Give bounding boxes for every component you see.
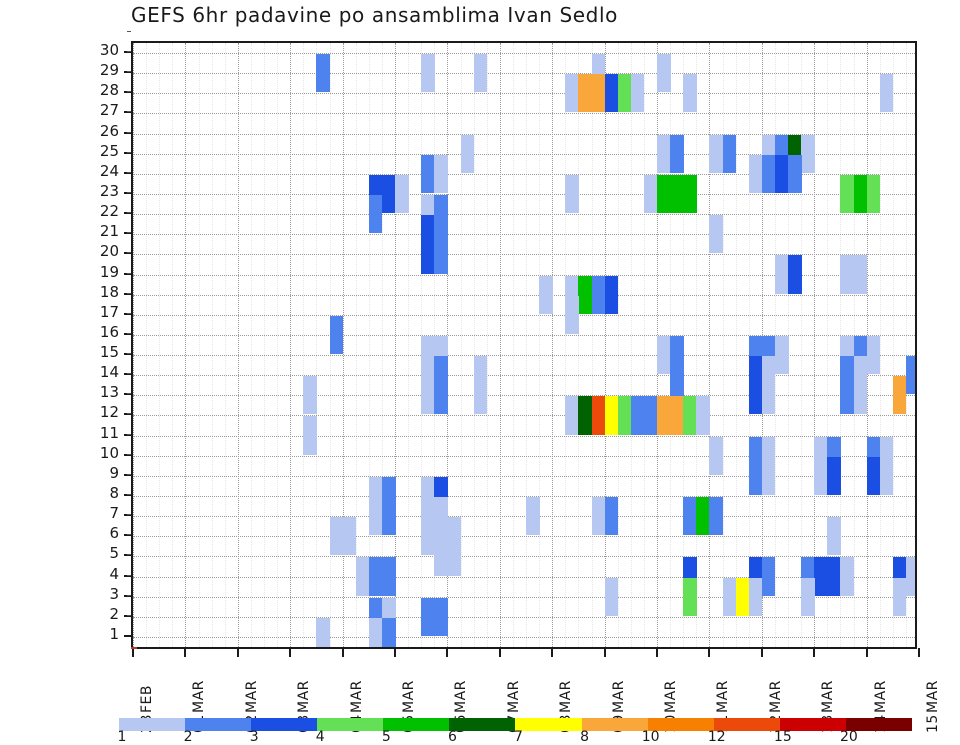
heatmap-cell <box>592 396 606 434</box>
y-axis-minor-tick <box>127 273 131 274</box>
heatmap-cell <box>578 74 592 112</box>
heatmap-cell <box>565 296 579 334</box>
y-axis-minor-tick <box>127 575 131 576</box>
y-axis-tick-label: 27 <box>89 103 119 118</box>
heatmap-cell <box>709 215 723 253</box>
heatmap-cell <box>447 537 461 575</box>
heatmap-cell <box>578 396 592 434</box>
grid-line-horizontal <box>133 597 915 598</box>
heatmap-cell <box>474 376 488 414</box>
y-axis-tick-label: 3 <box>89 587 119 602</box>
y-axis-tick-label: 18 <box>89 285 119 300</box>
colorbar-tick-label: 10 <box>642 729 660 745</box>
y-axis-tick-label: 4 <box>89 567 119 582</box>
x-axis-tick <box>708 648 710 657</box>
heatmap-cell <box>814 557 828 595</box>
y-axis-tick-label: 16 <box>89 325 119 340</box>
y-axis-tick-label: 1 <box>89 627 119 642</box>
plot-area <box>131 41 917 649</box>
y-axis-tick-label: 14 <box>89 365 119 380</box>
x-axis-tick <box>761 648 763 657</box>
heatmap-cell <box>867 457 881 495</box>
heatmap-cell <box>854 175 868 213</box>
heatmap-cell <box>670 135 684 173</box>
x-axis-tick <box>918 648 920 657</box>
heatmap-cell <box>526 497 540 535</box>
grid-line-horizontal <box>133 476 915 477</box>
grid-line-horizontal <box>133 194 915 195</box>
heatmap-cell <box>605 497 619 535</box>
heatmap-cell <box>657 135 671 173</box>
colorbar-tick-label: 2 <box>184 729 193 745</box>
y-axis-minor-tick <box>127 192 131 193</box>
colorbar-tick-label: 8 <box>580 729 589 745</box>
heatmap-cell <box>788 255 802 293</box>
heatmap-cell <box>382 497 396 535</box>
y-axis-minor-tick <box>127 313 131 314</box>
y-axis-minor-tick <box>127 373 131 374</box>
heatmap-cell <box>801 578 815 616</box>
heatmap-cell <box>343 517 357 555</box>
heatmap-cell <box>840 557 854 595</box>
y-axis-minor-tick <box>127 132 131 133</box>
heatmap-cell <box>421 235 435 273</box>
heatmap-cell <box>474 54 488 92</box>
grid-line-horizontal <box>133 355 915 356</box>
y-axis-minor-tick <box>127 31 131 32</box>
heatmap-cell <box>670 396 684 434</box>
grid-line-horizontal <box>133 234 915 235</box>
heatmap-cell <box>906 557 915 595</box>
y-axis-tick-label: 23 <box>89 184 119 199</box>
x-axis-month-label: MAR <box>244 680 260 713</box>
heatmap-cell <box>565 396 579 434</box>
heatmap-cell <box>775 155 789 193</box>
heatmap-cell <box>683 74 697 112</box>
heatmap-cell <box>867 175 881 213</box>
y-axis-tick-label: 9 <box>89 466 119 481</box>
heatmap-cell <box>592 276 606 314</box>
grid-line-horizontal <box>133 556 915 557</box>
heatmap-cell <box>382 175 396 213</box>
heatmap-cell <box>631 396 645 434</box>
heatmap-cell <box>369 497 383 535</box>
grid-line-horizontal <box>133 335 915 336</box>
y-axis-minor-tick <box>127 393 131 394</box>
x-axis-tick <box>604 648 606 657</box>
heatmap-cell <box>356 557 370 595</box>
heatmap-cell <box>434 376 448 414</box>
y-axis-tick-label: 6 <box>89 526 119 541</box>
heatmap-cell <box>657 336 671 374</box>
heatmap-cell <box>709 135 723 173</box>
heatmap-cell <box>421 54 435 92</box>
heatmap-cell <box>303 416 317 454</box>
x-axis-month-label: MAR <box>453 680 469 713</box>
colorbar-tick-label: 4 <box>316 729 325 745</box>
heatmap-cell <box>696 497 710 535</box>
precipitation-ensemble-chart: GEFS 6hr padavine po ansamblima Ivan Sed… <box>0 0 960 742</box>
heatmap-cell <box>434 235 448 273</box>
colorbar-tick-label: 1 <box>118 729 127 745</box>
heatmap-cell <box>827 557 841 595</box>
heatmap-cell <box>618 74 632 112</box>
grid-line-horizontal <box>133 53 915 54</box>
x-axis-month-label: FEB <box>139 685 155 713</box>
x-axis-month-label: MAR <box>296 680 312 713</box>
y-axis-minor-tick <box>127 474 131 475</box>
x-axis-month-label: MAR <box>768 680 784 713</box>
heatmap-cell <box>382 618 396 647</box>
grid-line-horizontal <box>133 315 915 316</box>
heatmap-cell <box>618 396 632 434</box>
grid-line-horizontal <box>133 73 915 74</box>
heatmap-cell <box>788 155 802 193</box>
heatmap-cell <box>382 557 396 595</box>
heatmap-cell <box>827 517 841 555</box>
heatmap-cell <box>565 175 579 213</box>
heatmap-cell <box>840 175 854 213</box>
grid-line-horizontal <box>133 113 915 114</box>
heatmap-cell <box>880 457 894 495</box>
grid-line-horizontal <box>133 395 915 396</box>
y-axis-minor-tick <box>127 413 131 414</box>
heatmap-cell <box>683 175 697 213</box>
heatmap-cell <box>709 437 723 475</box>
colorbar-tick-label: 12 <box>708 729 726 745</box>
y-axis-minor-tick <box>127 615 131 616</box>
grid-line-horizontal <box>133 93 915 94</box>
heatmap-cell <box>421 155 435 193</box>
grid-line-horizontal <box>133 516 915 517</box>
y-axis-minor-tick <box>127 111 131 112</box>
grid-line-horizontal <box>133 436 915 437</box>
heatmap-cell <box>592 74 606 112</box>
heatmap-cell <box>316 618 330 647</box>
y-axis-tick <box>124 635 131 637</box>
x-axis-tick <box>813 648 815 657</box>
heatmap-cell <box>709 497 723 535</box>
x-axis-day-label: 15 <box>925 714 941 733</box>
heatmap-cell <box>657 175 671 213</box>
y-axis-minor-tick <box>127 71 131 72</box>
y-axis-tick-label: 15 <box>89 345 119 360</box>
heatmap-cell <box>683 497 697 535</box>
heatmap-cell <box>605 578 619 616</box>
heatmap-cell <box>762 376 776 414</box>
heatmap-cell <box>316 54 330 92</box>
x-axis-tick <box>132 648 134 657</box>
grid-line-horizontal <box>133 496 915 497</box>
y-axis-minor-tick <box>127 232 131 233</box>
heatmap-cell <box>683 396 697 434</box>
heatmap-cell <box>893 578 907 616</box>
heatmap-cell <box>749 376 763 414</box>
heatmap-cell <box>906 356 915 394</box>
grid-line-horizontal <box>133 415 915 416</box>
x-axis-tick <box>237 648 239 657</box>
y-axis-minor-tick <box>127 172 131 173</box>
y-axis-minor-tick <box>127 212 131 213</box>
heatmap-cell <box>801 135 815 173</box>
x-axis-month-label: MAR <box>558 680 574 713</box>
y-axis-minor-tick <box>127 293 131 294</box>
x-axis-tick <box>551 648 553 657</box>
x-axis-month-label: MAR <box>191 680 207 713</box>
heatmap-cell <box>854 376 868 414</box>
heatmap-cell <box>330 517 344 555</box>
y-axis-tick-label: 2 <box>89 607 119 622</box>
heatmap-cell <box>840 255 854 293</box>
grid-line-horizontal <box>133 456 915 457</box>
heatmap-cell <box>330 316 344 354</box>
heatmap-cell <box>434 537 448 575</box>
heatmap-cell <box>421 517 435 555</box>
heatmap-cell <box>670 175 684 213</box>
x-axis-month-label: MAR <box>925 680 941 713</box>
heatmap-cell <box>762 557 776 595</box>
heatmap-cell <box>369 618 383 647</box>
colorbar-ticks: 1234567810121520 <box>119 729 912 745</box>
y-axis-tick-label: 11 <box>89 426 119 441</box>
heatmap-cell <box>644 175 658 213</box>
heatmap-cell <box>749 457 763 495</box>
heatmap-cell <box>840 376 854 414</box>
heatmap-cell <box>461 135 475 173</box>
heatmap-cell <box>736 578 750 616</box>
heatmap-cell <box>303 376 317 414</box>
heatmap-cell <box>605 74 619 112</box>
axis-origin-marker <box>131 647 137 649</box>
y-axis-minor-tick <box>127 91 131 92</box>
colorbar-tick-label: 7 <box>514 729 523 745</box>
heatmap-cell <box>749 155 763 193</box>
heatmap-cell <box>421 376 435 414</box>
y-axis-minor-tick <box>127 494 131 495</box>
x-axis-tick <box>184 648 186 657</box>
y-axis-minor-tick <box>127 51 131 52</box>
y-axis-tick-label: 19 <box>89 265 119 280</box>
x-axis-month-label: MAR <box>663 680 679 713</box>
grid-line-horizontal <box>133 295 915 296</box>
colorbar-tick-label: 20 <box>840 729 858 745</box>
y-axis-tick-label: 7 <box>89 506 119 521</box>
x-axis-tick <box>446 648 448 657</box>
heatmap-cell <box>775 255 789 293</box>
y-axis-minor-tick <box>127 595 131 596</box>
heatmap-cell <box>696 396 710 434</box>
colorbar-tick-label: 3 <box>250 729 259 745</box>
y-axis-minor-tick <box>127 534 131 535</box>
x-axis-tick <box>289 648 291 657</box>
x-axis-month-label: MAR <box>506 680 522 713</box>
y-axis-tick-label: 30 <box>89 43 119 58</box>
heatmap-cell <box>434 598 448 636</box>
heatmap-cell <box>683 578 697 616</box>
plot-canvas <box>133 43 915 647</box>
x-axis-month-label: MAR <box>820 680 836 713</box>
grid-line-horizontal <box>133 617 915 618</box>
heatmap-cell <box>644 396 658 434</box>
grid-line-horizontal <box>133 214 915 215</box>
x-axis-tick <box>342 648 344 657</box>
grid-line-horizontal <box>133 577 915 578</box>
heatmap-cell <box>762 155 776 193</box>
y-axis-tick-label: 5 <box>89 546 119 561</box>
y-axis-tick-label: 17 <box>89 305 119 320</box>
grid-line-horizontal <box>133 637 915 638</box>
heatmap-cell <box>723 578 737 616</box>
x-axis-tick <box>656 648 658 657</box>
x-axis-tick <box>394 648 396 657</box>
y-axis-tick-label: 10 <box>89 446 119 461</box>
heatmap-cell <box>723 135 737 173</box>
y-axis-minor-tick <box>127 152 131 153</box>
y-axis-tick-label: 8 <box>89 486 119 501</box>
x-axis-month-label: MAR <box>349 680 365 713</box>
heatmap-cell <box>762 457 776 495</box>
y-axis-tick-label: 28 <box>89 83 119 98</box>
y-axis-minor-tick <box>127 333 131 334</box>
heatmap-cell <box>395 175 409 213</box>
colorbar-tick-label: 15 <box>774 729 792 745</box>
y-axis-tick-label: 25 <box>89 144 119 159</box>
heatmap-cell <box>592 497 606 535</box>
heatmap-cell <box>565 74 579 112</box>
heatmap-cell <box>421 598 435 636</box>
heatmap-cell <box>369 557 383 595</box>
colorbar-tick-label: 6 <box>448 729 457 745</box>
heatmap-cell <box>605 396 619 434</box>
colorbar-tick-label: 5 <box>382 729 391 745</box>
page-title: GEFS 6hr padavine po ansamblima Ivan Sed… <box>131 3 618 27</box>
heatmap-cell <box>749 578 763 616</box>
grid-line-horizontal <box>133 536 915 537</box>
heatmap-cell <box>854 255 868 293</box>
x-axis-month-label: MAR <box>715 680 731 713</box>
y-axis-tick-label: 24 <box>89 164 119 179</box>
heatmap-cell <box>827 457 841 495</box>
heatmap-cell <box>539 276 553 314</box>
heatmap-cell <box>631 74 645 112</box>
y-axis-minor-tick <box>127 554 131 555</box>
heatmap-cell <box>814 457 828 495</box>
heatmap-cell <box>578 276 592 314</box>
y-axis-minor-tick <box>127 353 131 354</box>
heatmap-cell <box>775 336 789 374</box>
heatmap-cell <box>434 155 448 193</box>
grid-line-horizontal <box>133 375 915 376</box>
x-axis-month-label: MAR <box>873 680 889 713</box>
x-axis-tick <box>866 648 868 657</box>
y-axis-tick-label: 21 <box>89 224 119 239</box>
heatmap-cell <box>657 54 671 92</box>
y-axis-tick-label: 12 <box>89 405 119 420</box>
heatmap-cell <box>605 276 619 314</box>
heatmap-cell <box>893 376 907 414</box>
y-axis-tick-label: 29 <box>89 63 119 78</box>
y-axis-minor-tick <box>127 252 131 253</box>
y-axis-minor-tick <box>127 514 131 515</box>
x-axis-month-label: MAR <box>611 680 627 713</box>
y-axis-minor-tick <box>127 454 131 455</box>
x-axis-month-label: MAR <box>401 680 417 713</box>
x-axis-tick <box>499 648 501 657</box>
y-axis-tick-label: 13 <box>89 385 119 400</box>
heatmap-cell <box>657 396 671 434</box>
y-axis-tick-label: 22 <box>89 204 119 219</box>
y-axis-minor-tick <box>127 434 131 435</box>
heatmap-cell <box>867 336 881 374</box>
heatmap-cell <box>880 74 894 112</box>
heatmap-cell <box>369 195 383 233</box>
y-axis-tick-label: 26 <box>89 124 119 139</box>
y-axis-tick-label: 20 <box>89 244 119 259</box>
